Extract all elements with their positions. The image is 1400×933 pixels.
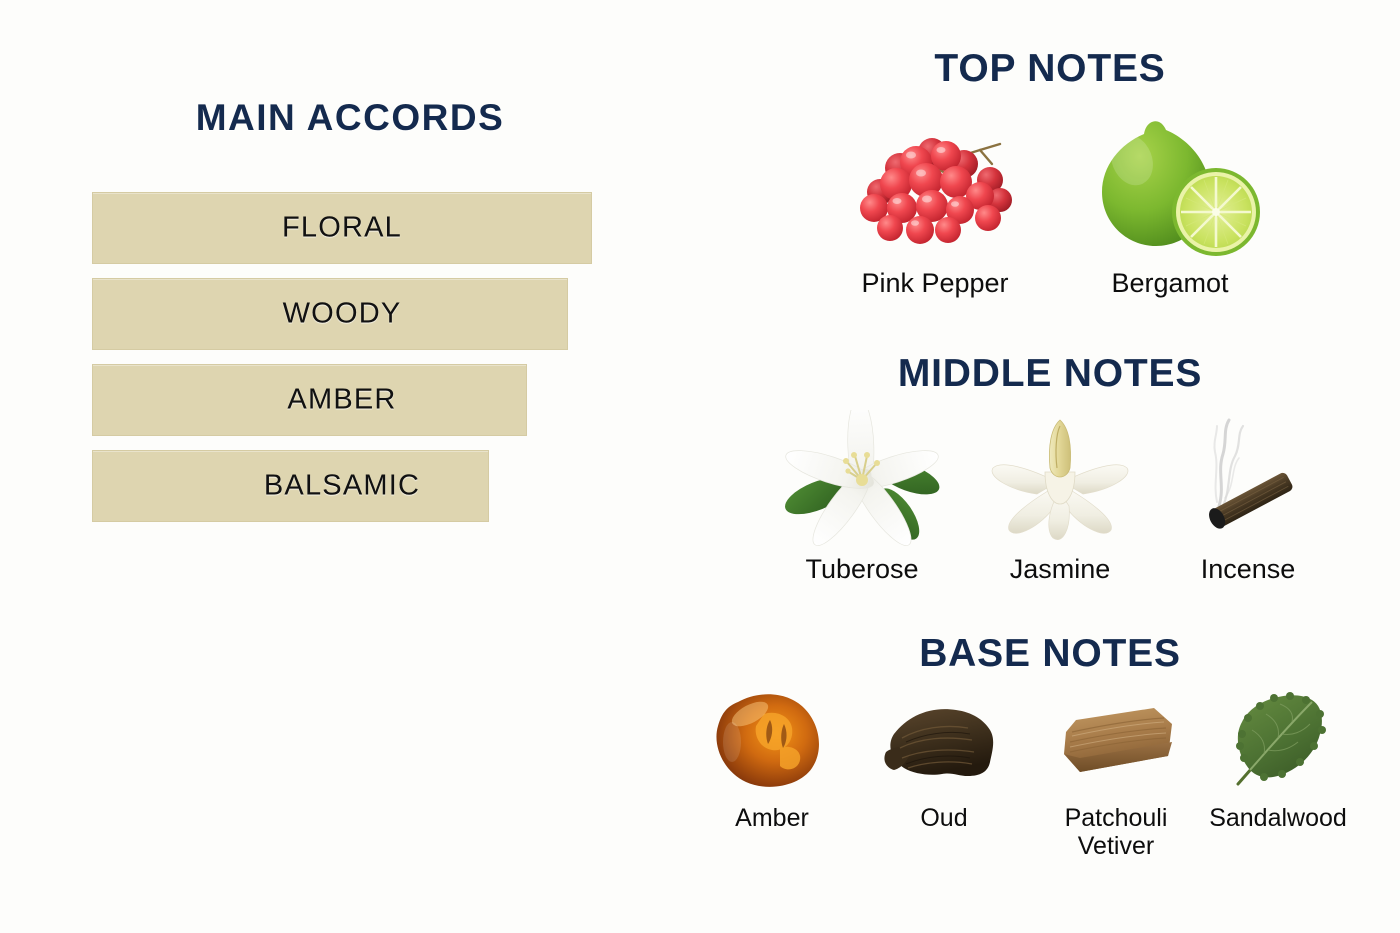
note-item-patchouli-vetiver: Patchouli Vetiver bbox=[1036, 680, 1196, 860]
note-label: Oud bbox=[920, 804, 967, 832]
note-label: Sandalwood bbox=[1209, 804, 1347, 832]
accord-bar-woody: WOODY bbox=[92, 278, 568, 350]
note-label: Bergamot bbox=[1111, 268, 1228, 298]
bergamot-citrus-icon bbox=[1080, 108, 1260, 258]
accord-label: AMBER bbox=[93, 384, 591, 417]
note-item-bergamot: Bergamot bbox=[1080, 108, 1260, 298]
note-label: Amber bbox=[735, 804, 809, 832]
oud-wood-icon bbox=[864, 680, 1024, 800]
main-accords-heading: MAIN ACCORDS bbox=[0, 97, 700, 139]
middle-notes-heading: MIDDLE NOTES bbox=[700, 352, 1400, 396]
note-label: Pink Pepper bbox=[861, 268, 1008, 298]
pink-pepper-berries-icon bbox=[840, 108, 1030, 258]
incense-stick-icon bbox=[1173, 410, 1323, 550]
amber-resin-icon bbox=[692, 680, 852, 800]
jasmine-flower-icon bbox=[975, 410, 1145, 550]
note-label: Tuberose bbox=[805, 554, 918, 584]
fragrance-notes-infographic: MAIN ACCORDS FLORAL WOODY AMBER BALSAMIC… bbox=[0, 0, 1400, 933]
sandalwood-leaf-icon bbox=[1208, 680, 1348, 800]
accord-label: FLORAL bbox=[93, 212, 591, 245]
accord-bar-floral: FLORAL bbox=[92, 192, 592, 264]
note-item-incense: Incense bbox=[1173, 410, 1323, 584]
tuberose-flower-icon bbox=[777, 410, 947, 550]
middle-notes-list: Tuberose bbox=[700, 410, 1400, 584]
main-accords-bar-list: FLORAL WOODY AMBER BALSAMIC bbox=[92, 192, 612, 536]
top-notes-heading: TOP NOTES bbox=[700, 47, 1400, 91]
note-item-tuberose: Tuberose bbox=[777, 410, 947, 584]
note-item-oud: Oud bbox=[864, 680, 1024, 832]
accord-label: WOODY bbox=[93, 298, 591, 331]
accord-label: BALSAMIC bbox=[93, 470, 591, 503]
accord-bar-balsamic: BALSAMIC bbox=[92, 450, 489, 522]
note-item-jasmine: Jasmine bbox=[975, 410, 1145, 584]
patchouli-wood-icon bbox=[1036, 680, 1196, 800]
note-item-sandalwood: Sandalwood bbox=[1208, 680, 1348, 832]
note-label: Jasmine bbox=[1010, 554, 1111, 584]
base-notes-heading: BASE NOTES bbox=[700, 632, 1400, 676]
note-item-pink-pepper: Pink Pepper bbox=[840, 108, 1030, 298]
base-notes-list: Amber bbox=[640, 680, 1400, 860]
note-item-amber: Amber bbox=[692, 680, 852, 832]
note-label: Patchouli Vetiver bbox=[1065, 804, 1168, 860]
note-label: Incense bbox=[1201, 554, 1296, 584]
accord-bar-amber: AMBER bbox=[92, 364, 527, 436]
top-notes-list: Pink Pepper bbox=[700, 108, 1400, 298]
